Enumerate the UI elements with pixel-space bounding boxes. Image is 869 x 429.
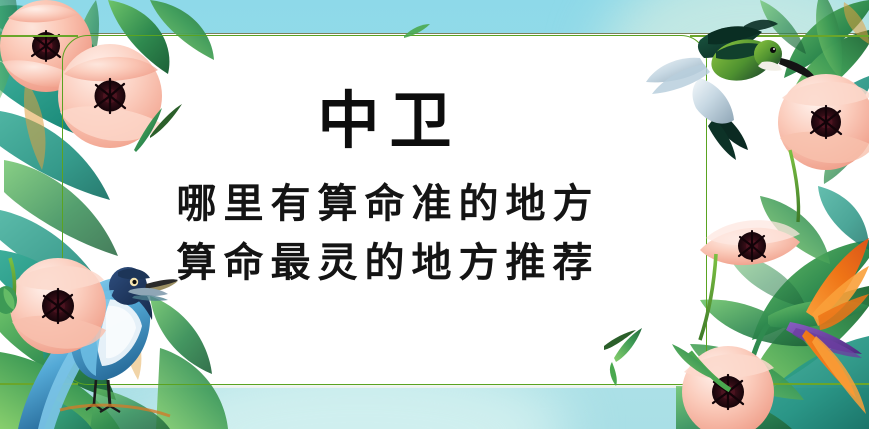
decorative-banner: 中卫 哪里有算命准的地方 算命最灵的地方推荐	[0, 0, 869, 429]
frame-rule-bottom-left	[0, 383, 78, 385]
white-content-card	[0, 33, 869, 385]
frame-rule-top-right	[690, 35, 869, 37]
frame-rule-top-left	[0, 35, 78, 37]
frame-rule-bottom-right	[690, 383, 869, 385]
